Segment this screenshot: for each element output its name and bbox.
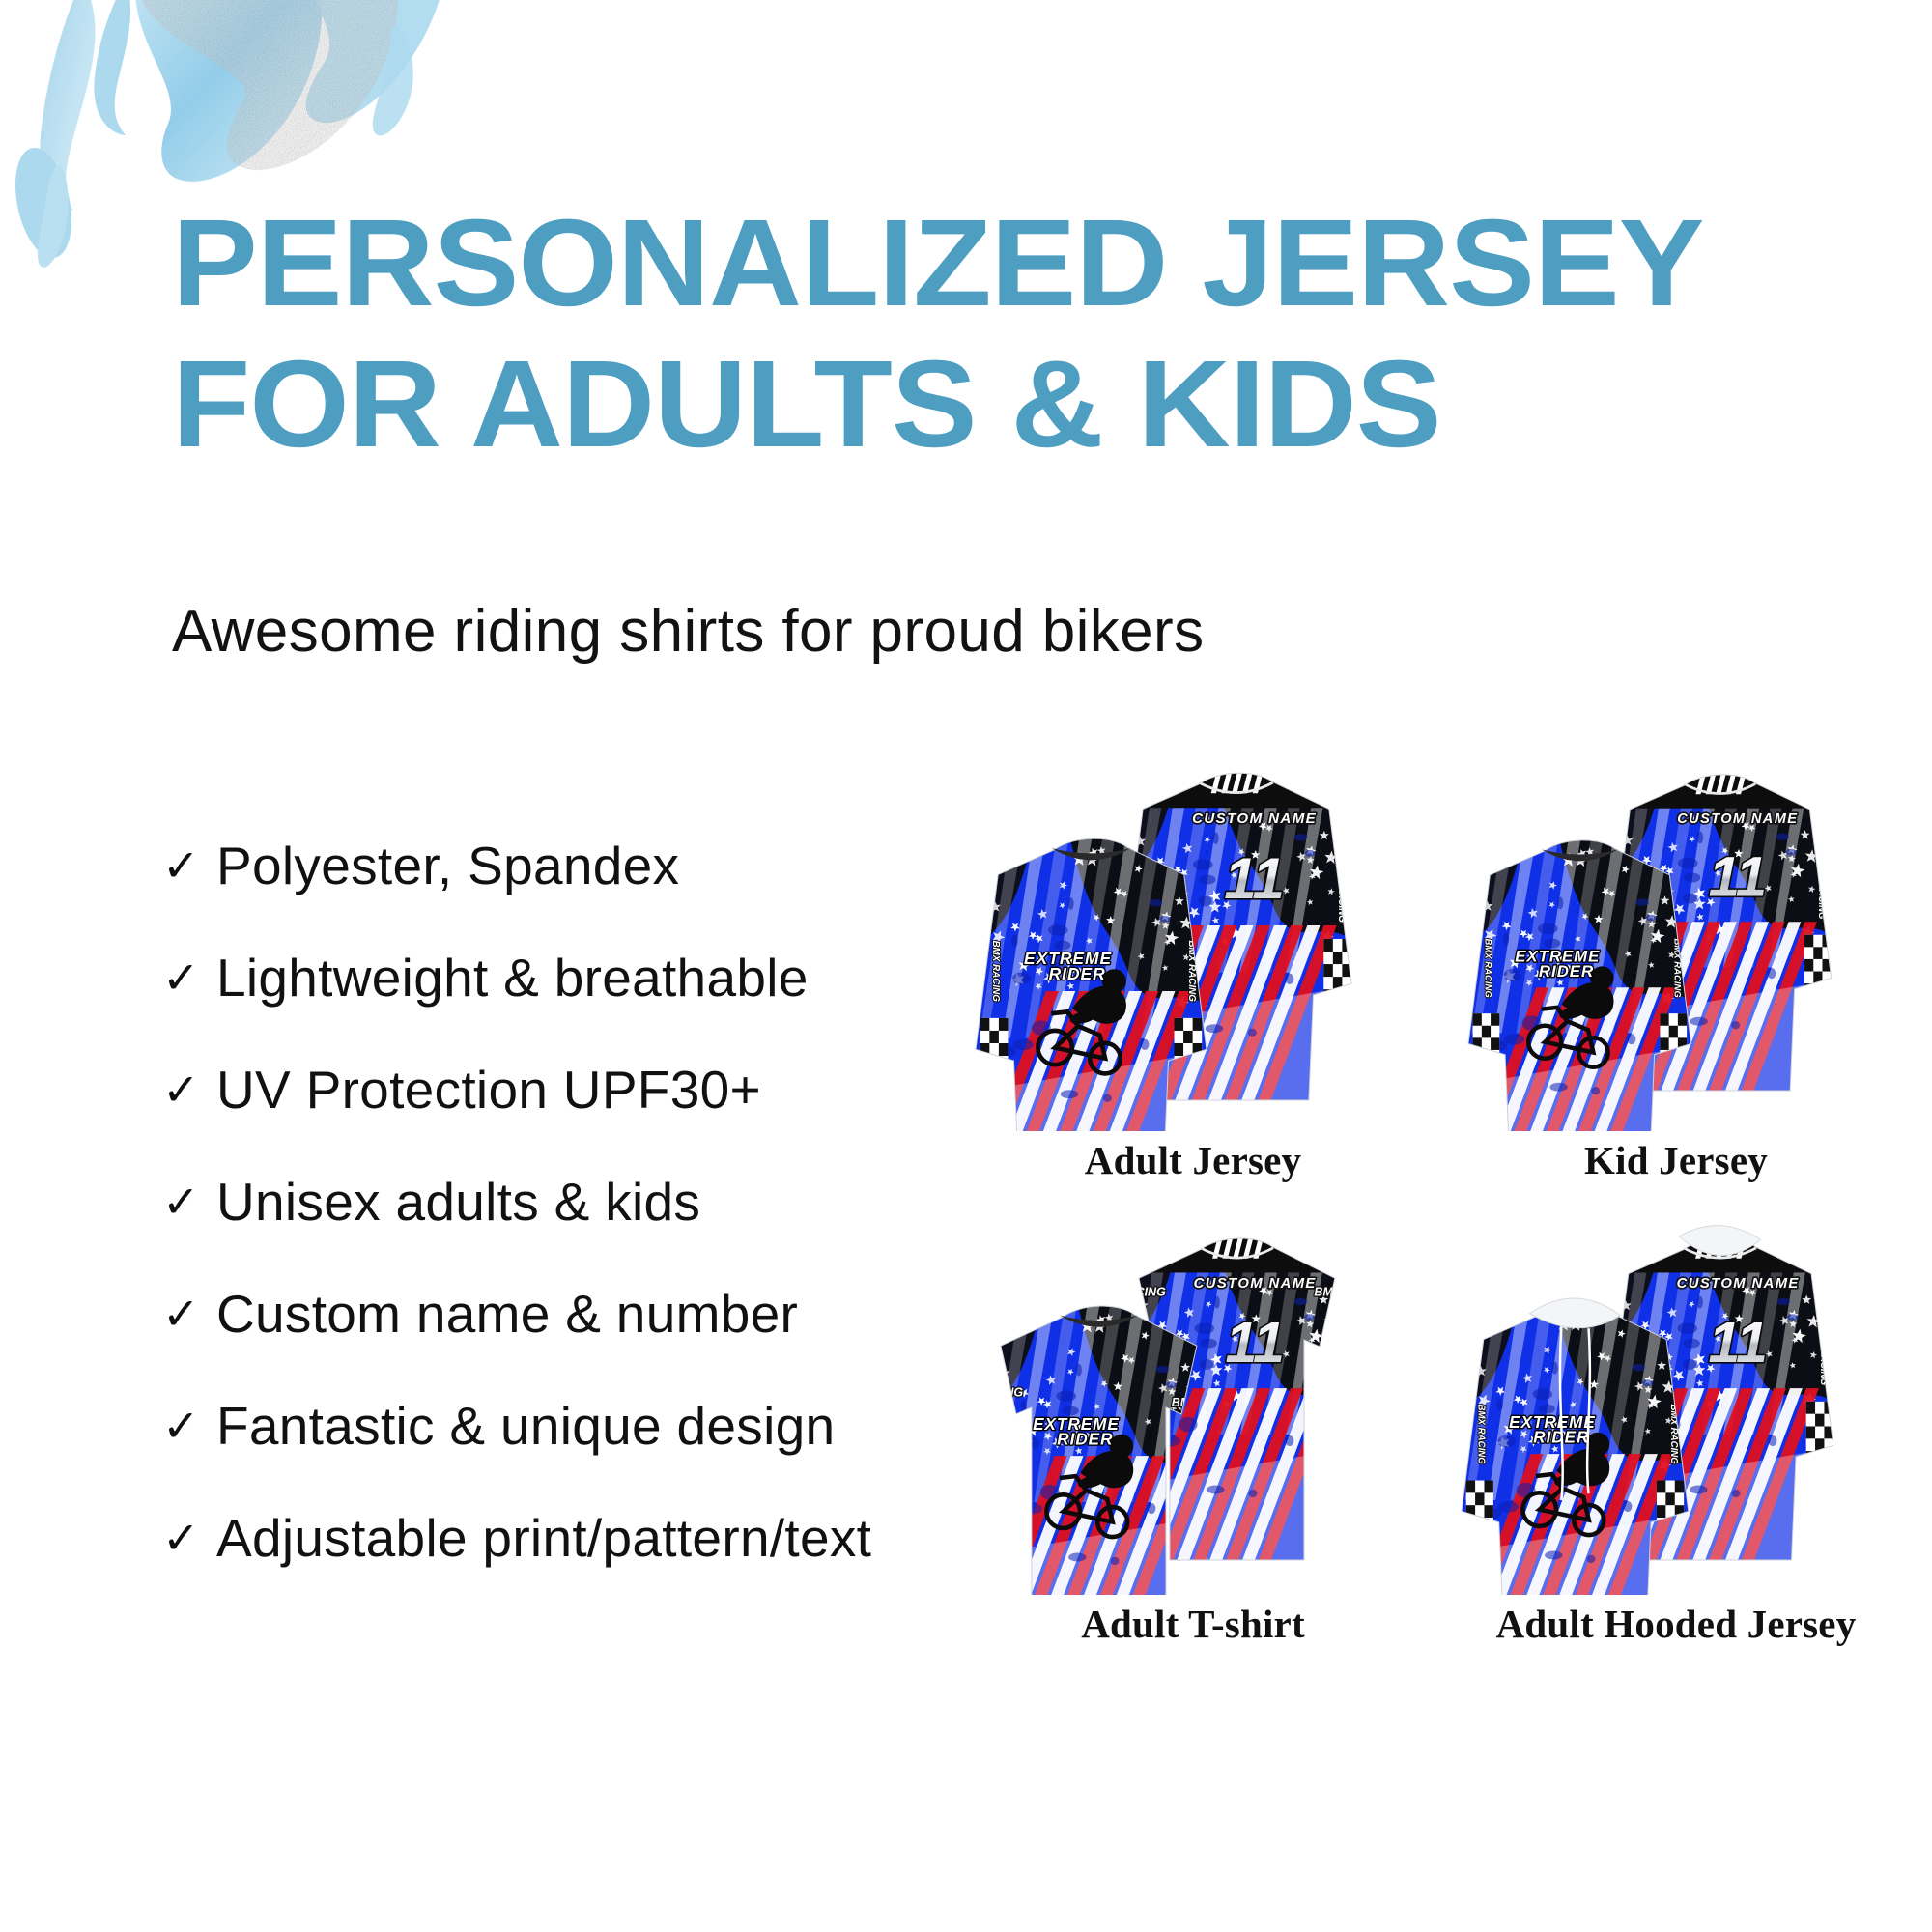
svg-text:11: 11	[1708, 1310, 1768, 1375]
svg-text:CUSTOM NAME: CUSTOM NAME	[1677, 1276, 1800, 1292]
title-line-1: PERSONALIZED JERSEY	[172, 193, 1800, 334]
product-card-adult-jersey[interactable]: CUSTOM NAME 11 BMX RACING EXTREME RIDER …	[952, 720, 1435, 1183]
product-card-adult-tshirt[interactable]: CUSTOM NAME 11 BMXCING EXTREME RIDER CIN…	[952, 1183, 1435, 1647]
product-image-adult-hooded-jersey: CUSTOM NAME 11 BMX RACING EXTREME RIDER …	[1435, 1218, 1918, 1595]
page-subtitle: Awesome riding shirts for proud bikers	[172, 597, 1205, 666]
svg-text:BMX RACING: BMX RACING	[1336, 862, 1347, 923]
product-card-adult-hooded-jersey[interactable]: CUSTOM NAME 11 BMX RACING EXTREME RIDER …	[1435, 1183, 1918, 1647]
svg-text:11: 11	[1709, 845, 1767, 908]
list-item: ✓ Fantastic & unique design	[162, 1370, 964, 1482]
svg-text:RIDER: RIDER	[1057, 1431, 1113, 1449]
svg-text:BMX RACING: BMX RACING	[1818, 1325, 1829, 1386]
feature-label: Polyester, Spandex	[216, 835, 679, 896]
list-item: ✓ Custom name & number	[162, 1258, 964, 1370]
svg-text:BMX RACING: BMX RACING	[1476, 1404, 1487, 1464]
svg-text:RIDER: RIDER	[1049, 964, 1106, 983]
title-line-2: FOR ADULTS & KIDS	[172, 334, 1800, 475]
product-label: Adult Hooded Jersey	[1496, 1601, 1857, 1647]
check-icon: ✓	[162, 1404, 216, 1448]
check-icon: ✓	[162, 1067, 216, 1112]
list-item: ✓ Lightweight & breathable	[162, 922, 964, 1034]
check-icon: ✓	[162, 955, 216, 1000]
list-item: ✓ Unisex adults & kids	[162, 1146, 964, 1258]
svg-text:CING: CING	[993, 1386, 1024, 1400]
svg-text:11: 11	[1224, 845, 1285, 911]
product-image-adult-tshirt: CUSTOM NAME 11 BMXCING EXTREME RIDER CIN…	[952, 1218, 1435, 1595]
list-item: ✓ UV Protection UPF30+	[162, 1034, 964, 1146]
check-icon: ✓	[162, 843, 216, 888]
product-card-kid-jersey[interactable]: CUSTOM NAME 11 BMX RACING EXTREME RIDER …	[1435, 720, 1918, 1183]
product-label: Adult Jersey	[1085, 1137, 1301, 1183]
feature-label: Lightweight & breathable	[216, 947, 809, 1009]
svg-text:BMX: BMX	[1314, 1285, 1341, 1298]
product-label: Kid Jersey	[1584, 1137, 1768, 1183]
svg-text:11: 11	[1225, 1310, 1285, 1375]
feature-label: UV Protection UPF30+	[216, 1059, 761, 1121]
feature-list: ✓ Polyester, Spandex ✓ Lightweight & bre…	[162, 810, 964, 1594]
svg-text:CUSTOM NAME: CUSTOM NAME	[1677, 811, 1798, 827]
svg-text:BMX RACING: BMX RACING	[1482, 938, 1492, 998]
feature-label: Fantastic & unique design	[216, 1395, 835, 1457]
feature-label: Adjustable print/pattern/text	[216, 1507, 871, 1569]
svg-text:BMX RACING: BMX RACING	[990, 940, 1001, 1002]
page-title: PERSONALIZED JERSEY FOR ADULTS & KIDS	[172, 193, 1737, 475]
list-item: ✓ Adjustable print/pattern/text	[162, 1482, 964, 1594]
svg-text:CUSTOM NAME: CUSTOM NAME	[1192, 810, 1317, 827]
check-icon: ✓	[162, 1292, 216, 1336]
check-icon: ✓	[162, 1516, 216, 1560]
product-gallery: CUSTOM NAME 11 BMX RACING EXTREME RIDER …	[952, 720, 1918, 1647]
check-icon: ✓	[162, 1179, 216, 1224]
product-label: Adult T-shirt	[1081, 1601, 1305, 1647]
svg-text:CING: CING	[1136, 1285, 1167, 1298]
feature-label: Unisex adults & kids	[216, 1171, 700, 1233]
product-image-adult-jersey: CUSTOM NAME 11 BMX RACING EXTREME RIDER …	[952, 754, 1435, 1131]
feature-label: Custom name & number	[216, 1283, 798, 1345]
list-item: ✓ Polyester, Spandex	[162, 810, 964, 922]
svg-text:RIDER: RIDER	[1539, 962, 1594, 980]
product-image-kid-jersey: CUSTOM NAME 11 BMX RACING EXTREME RIDER …	[1435, 754, 1918, 1131]
svg-text:CUSTOM NAME: CUSTOM NAME	[1194, 1276, 1317, 1292]
